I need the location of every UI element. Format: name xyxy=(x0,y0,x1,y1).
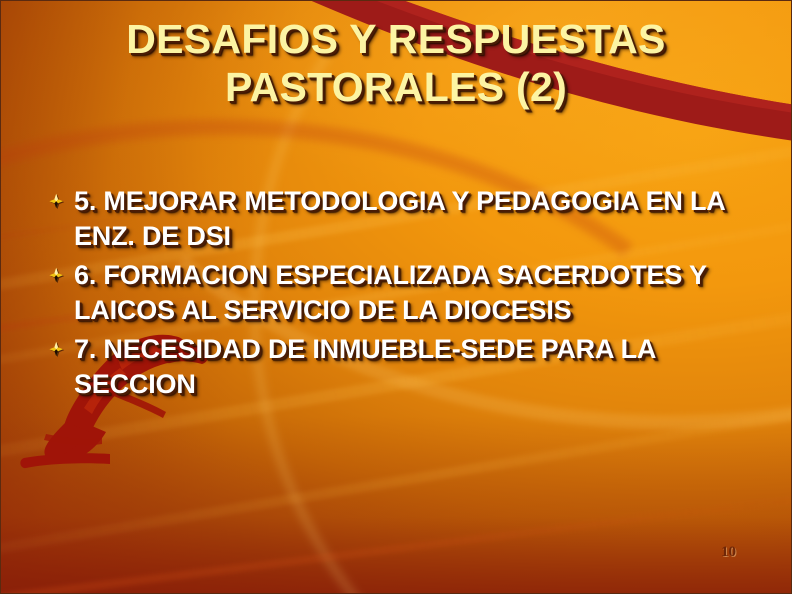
slide-bullet-list: 5. MEJORAR METODOLOGIA Y PEDAGOGIA EN LA… xyxy=(48,184,760,407)
gold-diamond-bullet-icon xyxy=(48,184,74,210)
list-item: 5. MEJORAR METODOLOGIA Y PEDAGOGIA EN LA… xyxy=(48,184,760,254)
gold-diamond-bullet-icon xyxy=(48,332,74,358)
list-item: 6. FORMACION ESPECIALIZADA SACERDOTES Y … xyxy=(48,258,760,328)
list-item: 7. NECESIDAD DE INMUEBLE-SEDE PARA LA SE… xyxy=(48,332,760,402)
list-item-label: 5. MEJORAR METODOLOGIA Y PEDAGOGIA EN LA… xyxy=(74,184,760,254)
slide-canvas: DESAFIOS Y RESPUESTAS PASTORALES (2) 5. … xyxy=(0,0,792,594)
page-number: 10 xyxy=(721,544,736,561)
slide-title: DESAFIOS Y RESPUESTAS PASTORALES (2) xyxy=(0,16,792,112)
gold-diamond-bullet-icon xyxy=(48,258,74,284)
list-item-label: 7. NECESIDAD DE INMUEBLE-SEDE PARA LA SE… xyxy=(74,332,760,402)
list-item-label: 6. FORMACION ESPECIALIZADA SACERDOTES Y … xyxy=(74,258,760,328)
